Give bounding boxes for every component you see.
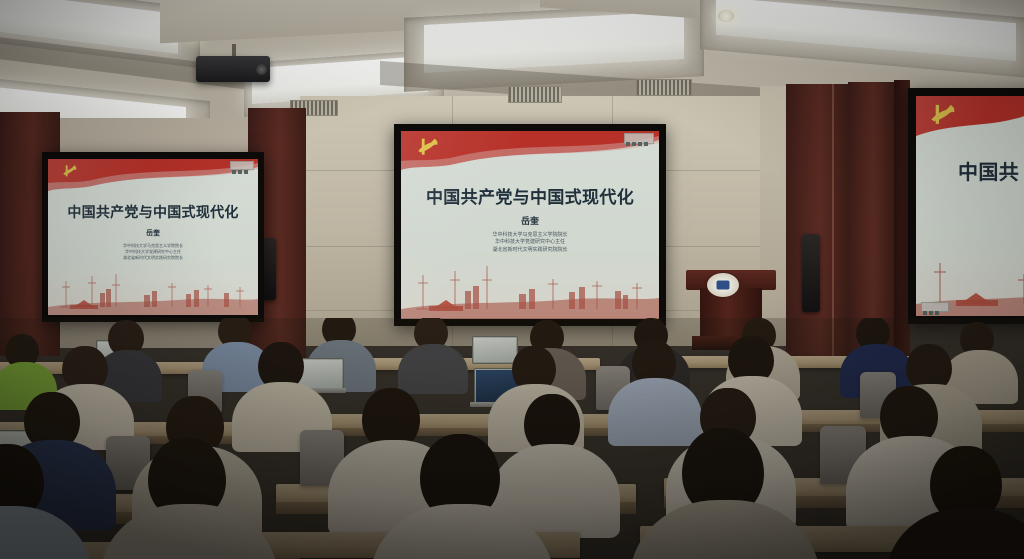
air-vent [636,79,692,96]
air-vent [508,86,562,103]
wood-wall-panel [848,82,894,356]
left-screen: 中国共产党与中国式现代化 岳奎 华中科技大学马克思主义学院院长 华中科技大学党建… [48,159,258,315]
slide-credits: 华中科技大学马克思主义学院院长 华中科技大学党建研究中心主任 湖北省新时代文明实… [48,243,258,260]
slide-title-partial: 中国共 [916,156,1024,185]
slide-center: 中国共产党与中国式现代化 岳奎 华中科技大学马克思主义学院院长 华中科技大学党建… [401,131,659,319]
slide-toolbar-overlay[interactable] [230,161,254,170]
city-skyline-graphic [401,259,659,319]
slide-toolbar-overlay[interactable] [624,133,654,144]
wood-wall-panel [786,84,848,356]
laptop [472,336,518,364]
cpc-flag-banner [48,159,258,193]
credit-line: 湖北省新时代文明实践研究院院长 [401,247,659,254]
slide-right: 中国共 [916,96,1024,316]
slide-title: 中国共产党与中国式现代化 [401,183,659,208]
lecture-hall-photo: 中国共产党与中国式现代化 岳奎 华中科技大学马克思主义学院院长 华中科技大学党建… [0,0,1024,559]
slide-credits: 华中科技大学马克思主义学院院长 华中科技大学党建研究中心主任 湖北省新时代文明实… [401,232,659,254]
slide-speaker-name: 岳奎 [401,214,659,227]
credit-line: 湖北省新时代文明实践研究院院长 [48,255,258,261]
screen-frame-right: 中国共 [908,88,1024,324]
credit-line: 华中科技大学党建研究中心主任 [401,239,659,246]
cpc-flag-banner [916,96,1024,144]
university-seal-icon [707,273,739,297]
slide-left: 中国共产党与中国式现代化 岳奎 华中科技大学马克思主义学院院长 华中科技大学党建… [48,159,258,315]
city-skyline-graphic [48,267,258,315]
right-screen: 中国共 [916,96,1024,316]
audience-area [0,318,1024,559]
center-screen: 中国共产党与中国式现代化 岳奎 华中科技大学马克思主义学院院长 华中科技大学党建… [401,131,659,319]
cpc-flag-banner [401,131,659,173]
slide-speaker-name: 岳奎 [48,228,258,238]
screen-frame-center: 中国共产党与中国式现代化 岳奎 华中科技大学马克思主义学院院长 华中科技大学党建… [394,124,666,326]
ceiling-downlight [718,10,734,22]
wall-speaker [802,234,820,312]
slide-title: 中国共产党与中国式现代化 [48,202,258,222]
slide-toolbar-overlay[interactable] [921,302,949,312]
screen-frame-left: 中国共产党与中国式现代化 岳奎 华中科技大学马克思主义学院院长 华中科技大学党建… [42,152,264,322]
projector-lens-icon [256,64,267,75]
